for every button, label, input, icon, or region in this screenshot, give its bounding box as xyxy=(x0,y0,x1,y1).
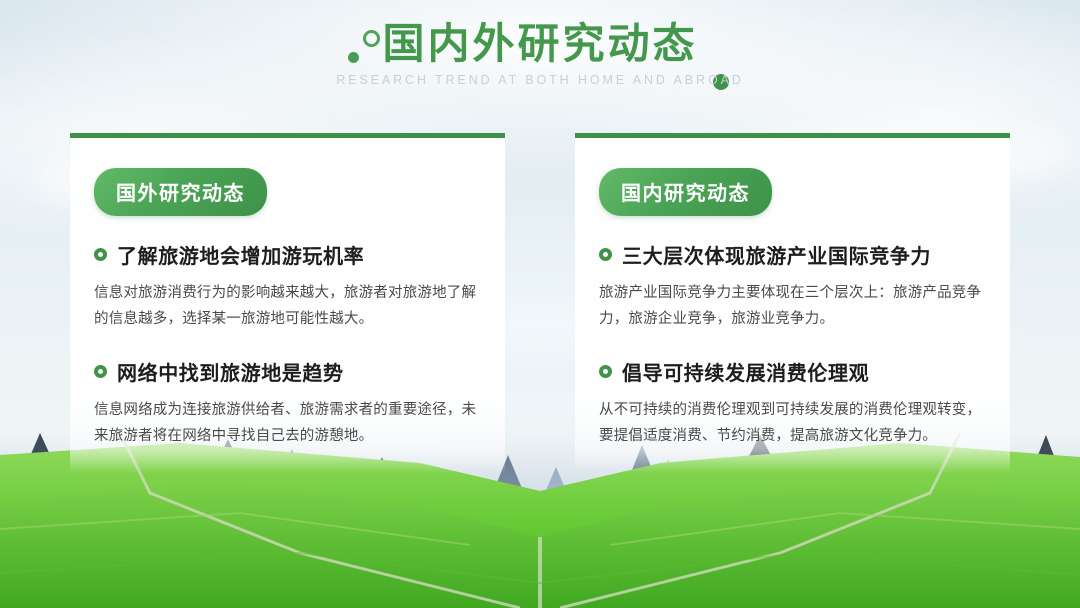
page-subtitle: RESEARCH TREND AT BOTH HOME AND ABROAD xyxy=(0,73,1080,87)
page-title: 国内外研究动态 xyxy=(0,18,1080,71)
page-header: 国内外研究动态 RESEARCH TREND AT BOTH HOME AND … xyxy=(0,18,1080,87)
item-title: 了解旅游地会增加游玩机率 xyxy=(117,240,364,269)
item-title: 三大层次体现旅游产业国际竞争力 xyxy=(622,240,931,269)
list-item: 了解旅游地会增加游玩机率 信息对旅游消费行为的影响越来越大，旅游者对旅游地了解的… xyxy=(94,240,481,333)
list-item: 三大层次体现旅游产业国际竞争力 旅游产业国际竞争力主要体现在三个层次上：旅游产品… xyxy=(599,240,986,333)
item-heading: 了解旅游地会增加游玩机率 xyxy=(94,240,481,269)
card-foreign-research: 国外研究动态 了解旅游地会增加游玩机率 信息对旅游消费行为的影响越来越大，旅游者… xyxy=(70,133,505,473)
ring-bullet-icon xyxy=(94,365,107,378)
item-text: 旅游产业国际竞争力主要体现在三个层次上：旅游产品竞争力，旅游企业竞争，旅游业竞争… xyxy=(599,280,986,333)
item-heading: 倡导可持续发展消费伦理观 xyxy=(599,357,986,386)
item-heading: 三大层次体现旅游产业国际竞争力 xyxy=(599,240,986,269)
list-item: 网络中找到旅游地是趋势 信息网络成为连接旅游供给者、旅游需求者的重要途径，未来旅… xyxy=(94,357,481,450)
card-badge: 国内研究动态 xyxy=(599,168,772,216)
item-title: 网络中找到旅游地是趋势 xyxy=(117,357,344,386)
item-heading: 网络中找到旅游地是趋势 xyxy=(94,357,481,386)
item-text: 信息对旅游消费行为的影响越来越大，旅游者对旅游地了解的信息越多，选择某一旅游地可… xyxy=(94,280,481,333)
item-text: 从不可持续的消费伦理观到可持续发展的消费伦理观转变，要提倡适度消费、节约消费，提… xyxy=(599,397,986,450)
card-body: 国内研究动态 三大层次体现旅游产业国际竞争力 旅游产业国际竞争力主要体现在三个层… xyxy=(575,138,1010,473)
list-item: 倡导可持续发展消费伦理观 从不可持续的消费伦理观到可持续发展的消费伦理观转变，要… xyxy=(599,357,986,450)
card-body: 国外研究动态 了解旅游地会增加游玩机率 信息对旅游消费行为的影响越来越大，旅游者… xyxy=(70,138,505,473)
item-title: 倡导可持续发展消费伦理观 xyxy=(622,357,869,386)
card-badge: 国外研究动态 xyxy=(94,168,267,216)
card-domestic-research: 国内研究动态 三大层次体现旅游产业国际竞争力 旅游产业国际竞争力主要体现在三个层… xyxy=(575,133,1010,473)
item-text: 信息网络成为连接旅游供给者、旅游需求者的重要途径，未来旅游者将在网络中寻找自己去… xyxy=(94,397,481,450)
ring-bullet-icon xyxy=(599,365,612,378)
ring-bullet-icon xyxy=(94,248,107,261)
ring-bullet-icon xyxy=(599,248,612,261)
